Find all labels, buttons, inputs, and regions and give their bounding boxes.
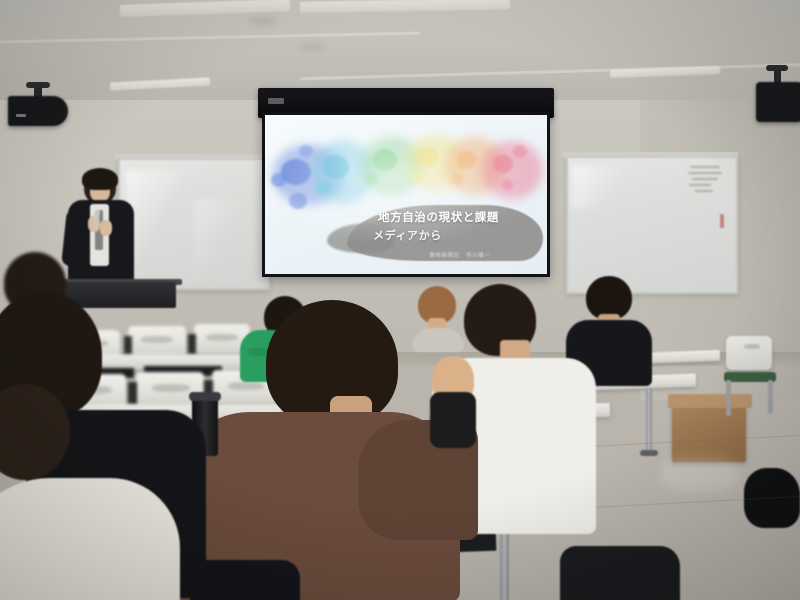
whiteboard-writing <box>689 184 711 186</box>
stacking-chair-leg <box>768 380 773 414</box>
wooden-box <box>672 400 746 462</box>
splash-orange <box>457 151 477 169</box>
splash-green <box>373 149 397 171</box>
splash-pink <box>493 155 513 173</box>
whiteboard-glare <box>194 200 240 282</box>
splash-pink <box>501 179 513 190</box>
speaker-body <box>756 82 800 122</box>
stacking-chair-back <box>726 336 772 370</box>
audience-member-cream-top <box>0 444 210 600</box>
splash-cyan <box>315 181 331 195</box>
wooden-box-top <box>668 394 752 408</box>
splash-green <box>365 173 379 185</box>
whiteboard-writing <box>692 178 718 180</box>
screen-case-label <box>268 98 284 104</box>
stacking-chair-leg <box>726 380 731 416</box>
presenter <box>62 170 140 288</box>
ceiling-mark <box>248 16 278 26</box>
ceiling-speaker-right <box>756 68 800 128</box>
splash-pink <box>481 141 543 199</box>
whiteboard-rail-left <box>114 154 270 159</box>
whiteboard-rail-right <box>562 152 738 157</box>
splash-pink <box>513 145 527 158</box>
whiteboard-magnet <box>720 214 724 228</box>
projection-screen: 地方自治の現状と課題 メディアから 静岡新聞社 市川雄一 <box>262 112 550 277</box>
slide-subtitle: メディアから <box>373 227 547 243</box>
sleeve <box>430 392 476 448</box>
whiteboard-right <box>566 156 738 294</box>
whiteboard-left <box>118 158 270 290</box>
splash-yellow <box>417 147 439 167</box>
slide-byline: 静岡新聞社 市川雄一 <box>395 251 525 259</box>
desk-leg <box>500 530 509 600</box>
chair-backrest-slot <box>744 344 760 349</box>
speaker-body <box>8 96 68 126</box>
slide-title: 地方自治の現状と課題 <box>378 209 547 225</box>
speaker-led <box>16 114 26 117</box>
speaker-bracket <box>26 82 50 88</box>
slide-accent-dash <box>345 216 371 218</box>
splash-cyan <box>323 155 349 179</box>
splash-orange <box>451 173 464 185</box>
presenter-hair <box>82 168 118 190</box>
floor-reflection <box>660 456 740 492</box>
whiteboard-writing <box>688 172 722 174</box>
whiteboard-writing <box>695 190 713 192</box>
ceiling-mark <box>300 42 324 51</box>
desk-foot <box>640 450 658 456</box>
presentation-slide: 地方自治の現状と課題 メディアから 静岡新聞社 市川雄一 <box>265 115 547 274</box>
splash-blue <box>289 193 307 209</box>
whiteboard-writing <box>690 166 720 168</box>
lecture-hall-photo: 地方自治の現状と課題 メディアから 静岡新聞社 市川雄一 <box>0 0 800 600</box>
presenter-hand-right <box>100 220 112 236</box>
splash-blue <box>299 145 313 157</box>
audience-member-brown-knit <box>178 300 478 600</box>
torso <box>0 478 180 600</box>
splash-yellow <box>411 171 424 183</box>
foreground-dark-object <box>560 546 680 600</box>
splash-blue <box>271 173 287 187</box>
ceiling-speaker-left <box>8 86 72 130</box>
foreground-dark-object <box>190 560 300 600</box>
whiteboard-glare <box>572 166 642 210</box>
speaker-bracket <box>766 65 788 71</box>
